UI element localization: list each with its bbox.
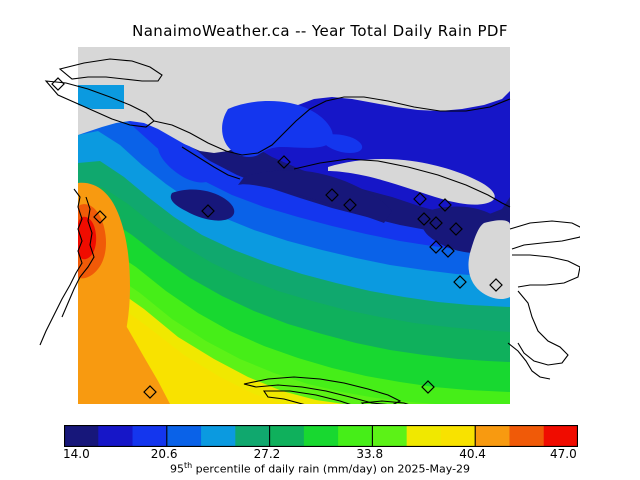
colorbar-band [167,425,202,447]
colorbar-tick-label: 27.2 [254,447,281,461]
colorbar-band [475,425,510,447]
map-panel [32,47,580,404]
caption-superscript: th [184,461,192,470]
colorbar-tick-label: 20.6 [151,447,178,461]
colorbar-band [201,425,236,447]
colorbar-tick-label: 33.8 [356,447,383,461]
colorbar-band [338,425,373,447]
colorbar-band [235,425,270,447]
colorbar-band [98,425,133,447]
rain-contour-map [32,47,580,404]
caption-prefix: 95 [170,463,184,476]
colorbar-bands [64,425,578,447]
colorbar-tick-label: 40.4 [459,447,486,461]
colorbar-band [270,425,305,447]
colorbar-svg [64,425,578,447]
colorbar-caption: 95th percentile of daily rain (mm/day) o… [0,461,640,476]
caption-suffix: percentile of daily rain (mm/day) on 202… [192,463,470,476]
colorbar [64,425,578,447]
colorbar-band [64,425,99,447]
colorbar-band [133,425,168,447]
colorbar-band [304,425,339,447]
colorbar-band [509,425,544,447]
colorbar-band [441,425,476,447]
colorbar-band [407,425,442,447]
page-title: NanaimoWeather.ca -- Year Total Daily Ra… [0,22,640,40]
contour-bands [74,47,510,404]
colorbar-tick-label: 14.0 [63,447,90,461]
colorbar-band [372,425,407,447]
colorbar-band [544,425,578,447]
colorbar-tick-label: 47.0 [550,447,577,461]
